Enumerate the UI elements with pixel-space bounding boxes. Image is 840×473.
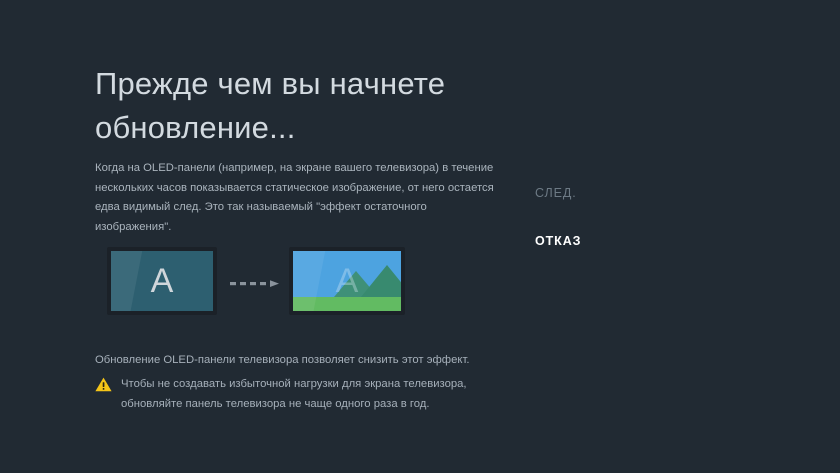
tv-after-screen: A [293, 251, 401, 311]
static-letter-a: A [111, 264, 213, 298]
oled-refresh-notice-screen: Прежде чем вы начнете обновление... Когд… [0, 0, 840, 473]
decline-button[interactable]: ОТКАЗ [535, 234, 581, 248]
page-title: Прежде чем вы начнете обновление... [95, 62, 525, 150]
tv-before: A [107, 247, 217, 315]
warning-triangle-icon [95, 377, 112, 397]
next-button[interactable]: СЛЕД. [535, 186, 577, 200]
tv-before-screen: A [111, 251, 213, 311]
warning-row: Чтобы не создавать избыточной нагрузки д… [95, 375, 525, 414]
intro-paragraph: Когда на OLED-панели (например, на экран… [95, 159, 495, 237]
burn-in-illustration: A A [107, 247, 417, 315]
refresh-note: Обновление OLED-панели телевизора позвол… [95, 351, 515, 370]
tv-after: A [289, 247, 405, 315]
dashed-arrow-icon [230, 276, 282, 287]
ghost-letter-a: A [293, 264, 401, 298]
warning-text: Чтобы не создавать избыточной нагрузки д… [121, 375, 525, 414]
action-button-group: СЛЕД. ОТКАЗ [535, 186, 715, 248]
